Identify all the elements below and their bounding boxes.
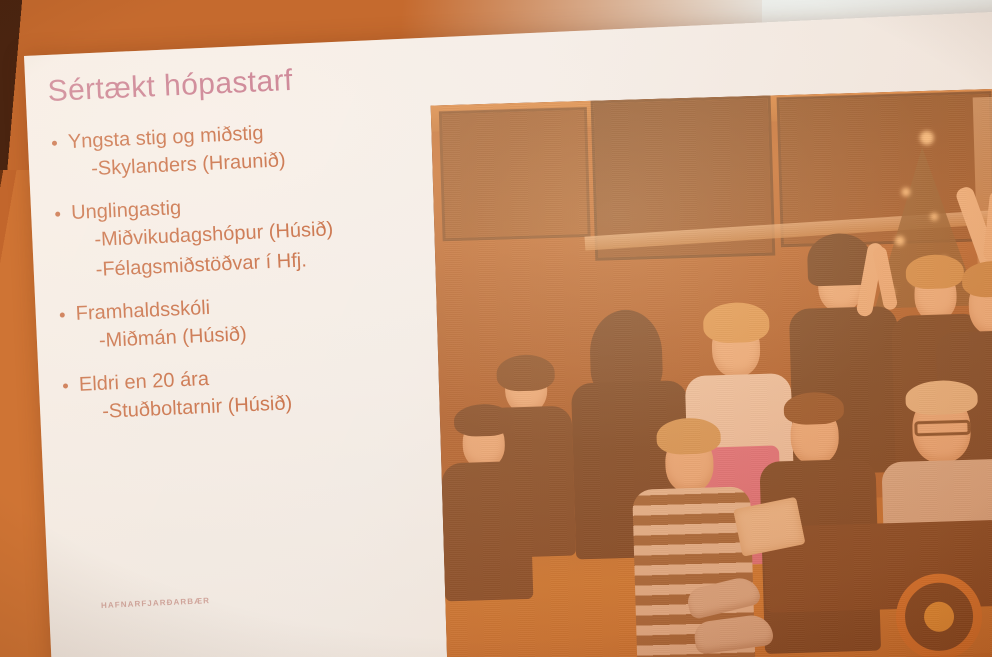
- bullet-label: Eldri en 20 ára: [78, 368, 209, 396]
- bullet-label: Unglingastig: [71, 197, 182, 224]
- slide-title: Sértækt hópastarf: [47, 56, 468, 109]
- bullet-dot-icon: [52, 141, 57, 146]
- slide-surface: Sértækt hópastarf Yngsta stig og miðstig…: [24, 10, 992, 657]
- bullet-group: Unglingastig -Miðvikudagshópur (Húsið) -…: [53, 183, 476, 287]
- bullet-dot-icon: [55, 212, 60, 217]
- person-hair: [905, 380, 978, 416]
- person-hair: [656, 417, 721, 455]
- bullet-label: Framhaldsskóli: [75, 297, 210, 325]
- person-hair: [962, 260, 992, 298]
- projected-slide: Sértækt hópastarf Yngsta stig og miðstig…: [24, 10, 992, 657]
- group-photo: [431, 87, 992, 657]
- slide-text-column: Sértækt hópastarf Yngsta stig og miðstig…: [47, 56, 483, 445]
- tree-star-icon: [919, 131, 933, 145]
- person-hair: [454, 403, 513, 437]
- bullet-group: Yngsta stig og miðstig -Skylanders (Hrau…: [49, 112, 471, 186]
- bullet-group: Eldri en 20 ára -Stuðboltarnir (Húsið): [60, 355, 482, 429]
- person-hair: [703, 302, 770, 344]
- bullet-group: Framhaldsskóli -Miðmán (Húsið): [57, 284, 479, 358]
- bullet-dot-icon: [63, 384, 68, 389]
- power-wheelchair: [742, 479, 992, 657]
- bullet-dot-icon: [60, 313, 65, 318]
- person-hand-peace-sign: [841, 241, 915, 363]
- person-hair: [496, 354, 555, 392]
- person-body: [441, 461, 533, 602]
- photo-window-panel: [439, 107, 591, 241]
- glasses-icon: [914, 420, 970, 437]
- organization-logo: HAFNARFJARÐARBÆR: [101, 596, 210, 610]
- person: [439, 399, 535, 602]
- person-hair: [783, 391, 844, 425]
